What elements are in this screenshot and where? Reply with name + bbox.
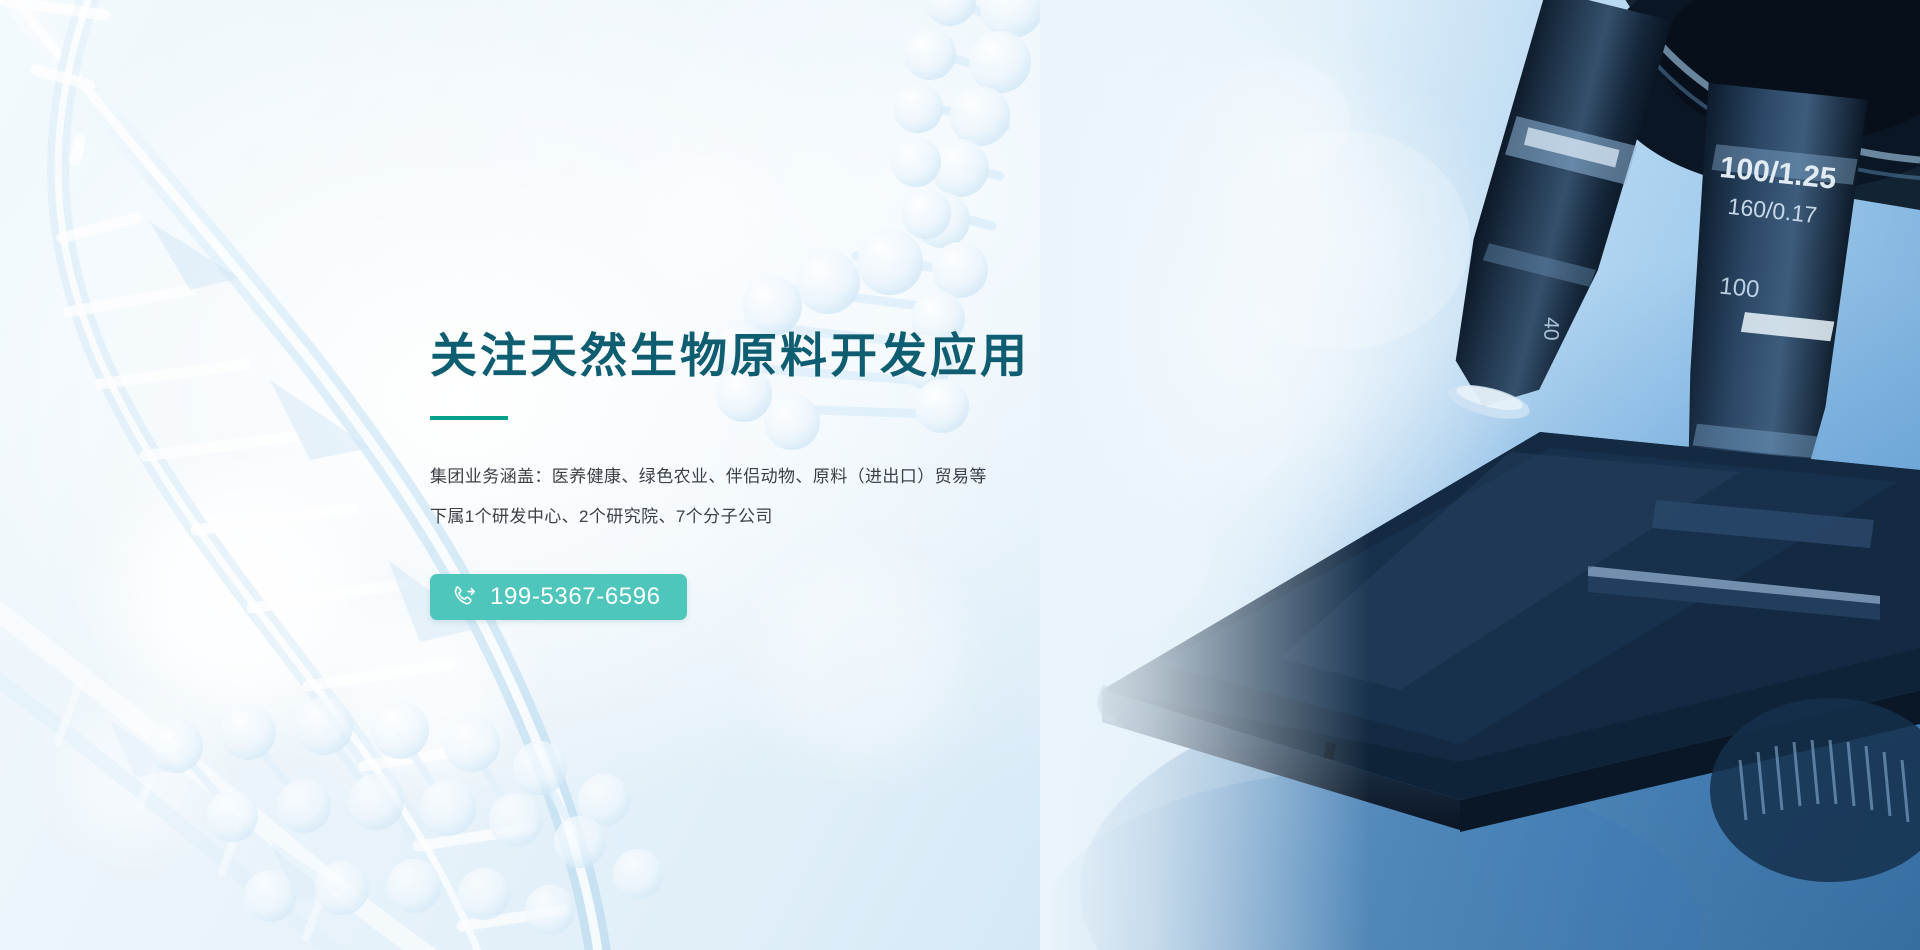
- hero-content: 关注天然生物原料开发应用 集团业务涵盖：医养健康、绿色农业、伴侣动物、原料（进出…: [430, 0, 1190, 950]
- phone-forward-icon: [452, 584, 477, 609]
- svg-text:100: 100: [1718, 272, 1761, 303]
- svg-text:40: 40: [1539, 317, 1563, 341]
- hero-description-line-1: 集团业务涵盖：医养健康、绿色农业、伴侣动物、原料（进出口）贸易等: [430, 457, 1190, 497]
- hero-description-line-2: 下属1个研发中心、2个研究院、7个分子公司: [430, 497, 1190, 537]
- hero-banner: 40 100/1.25 160/0.17 100: [0, 0, 1920, 950]
- page-title: 关注天然生物原料开发应用: [430, 330, 1190, 383]
- hero-description: 集团业务涵盖：医养健康、绿色农业、伴侣动物、原料（进出口）贸易等 下属1个研发中…: [430, 457, 1190, 537]
- phone-cta-button[interactable]: 199-5367-6596: [430, 574, 687, 620]
- accent-rule-icon: [430, 416, 508, 420]
- phone-number-label: 199-5367-6596: [490, 585, 661, 609]
